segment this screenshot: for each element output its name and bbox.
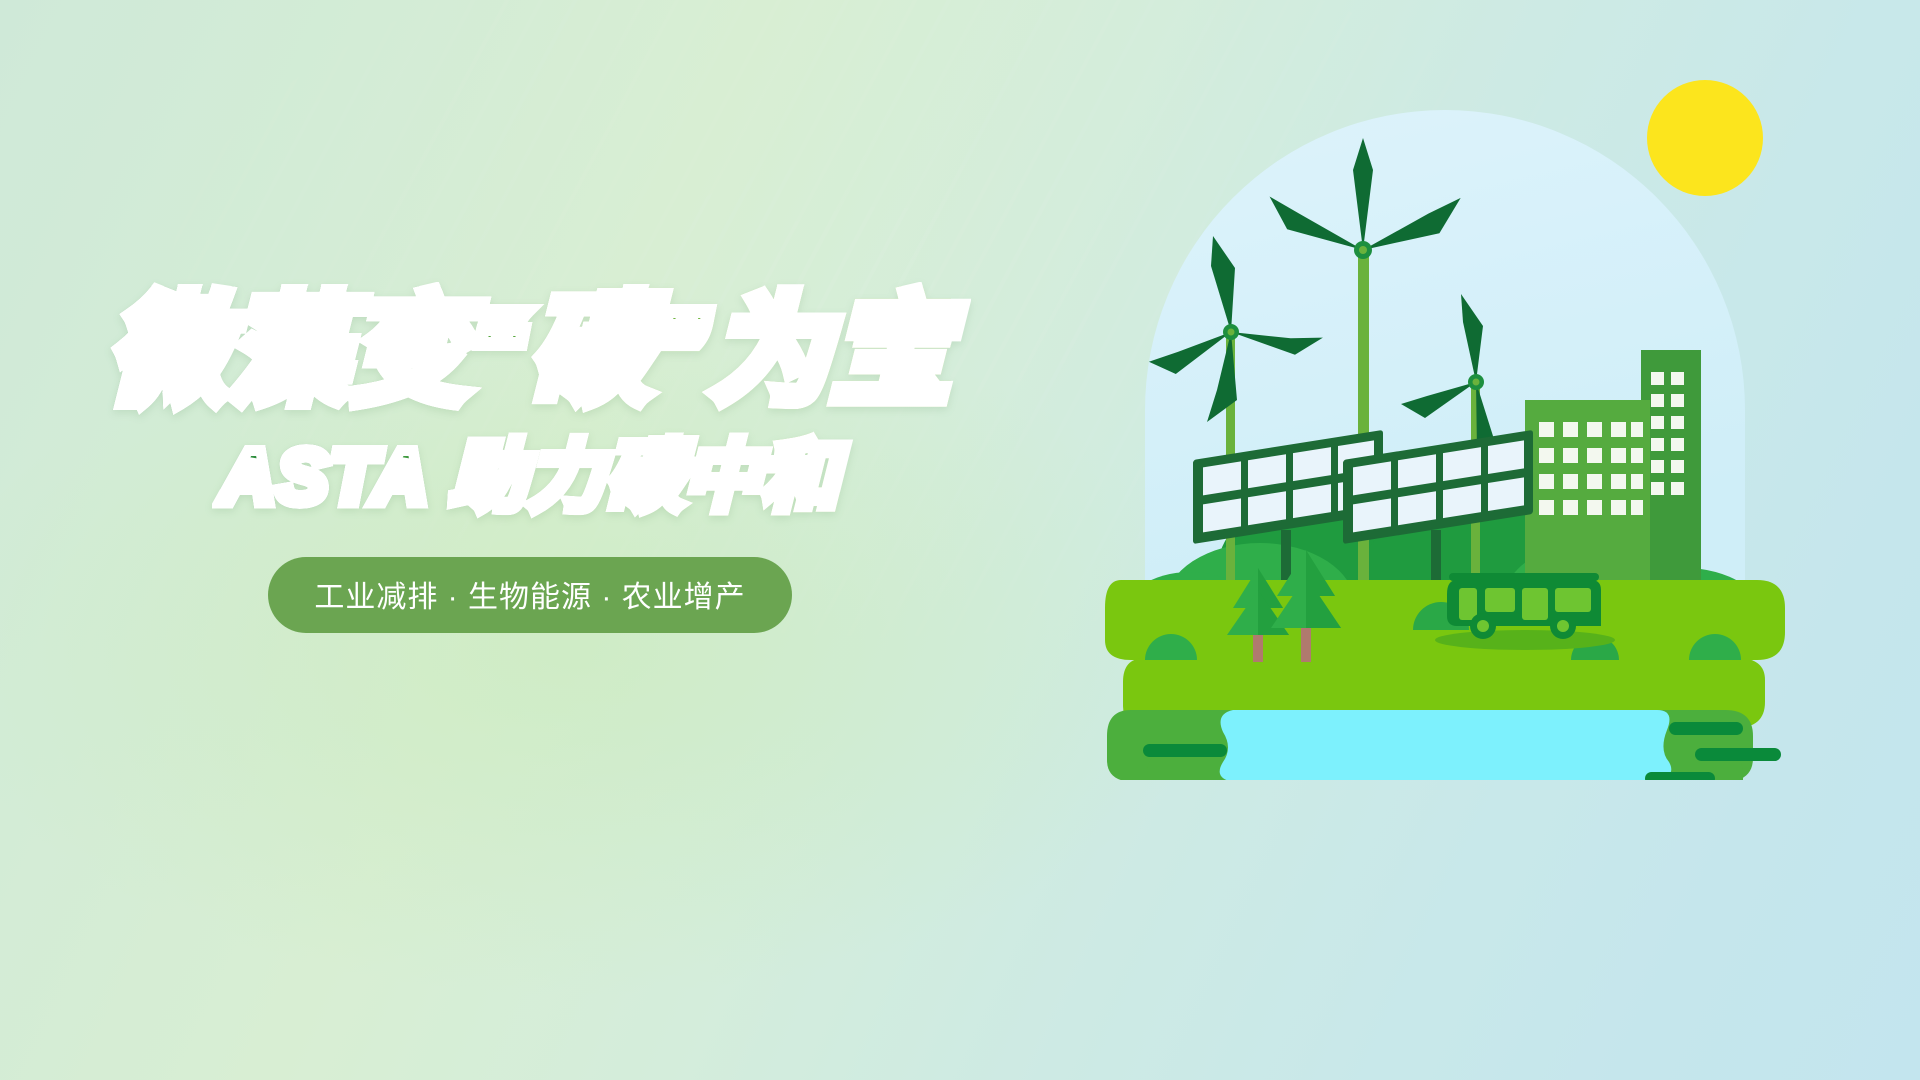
page-subtitle: ASTA 助力碳中和	[220, 432, 840, 523]
bus-icon	[1435, 573, 1615, 650]
tagline-badge: 工业减排 · 生物能源 · 农业增产	[268, 557, 791, 633]
sun-icon	[1647, 80, 1763, 196]
banner-text-block: 微藻变“碳”为宝 ASTA 助力碳中和 工业减排 · 生物能源 · 农业增产	[0, 286, 1060, 633]
lake-icon	[1220, 710, 1672, 780]
headline-wrap: 微藻变“碳”为宝	[0, 286, 1060, 418]
subheadline-wrap: ASTA 助力碳中和	[0, 418, 1060, 523]
tagline-wrap: 工业减排 · 生物能源 · 农业增产	[0, 523, 1060, 633]
eco-city-illustration	[1085, 60, 1805, 780]
page-title: 微藻变“碳”为宝	[109, 286, 951, 418]
lake-area	[1107, 710, 1781, 780]
ground	[1105, 580, 1785, 728]
